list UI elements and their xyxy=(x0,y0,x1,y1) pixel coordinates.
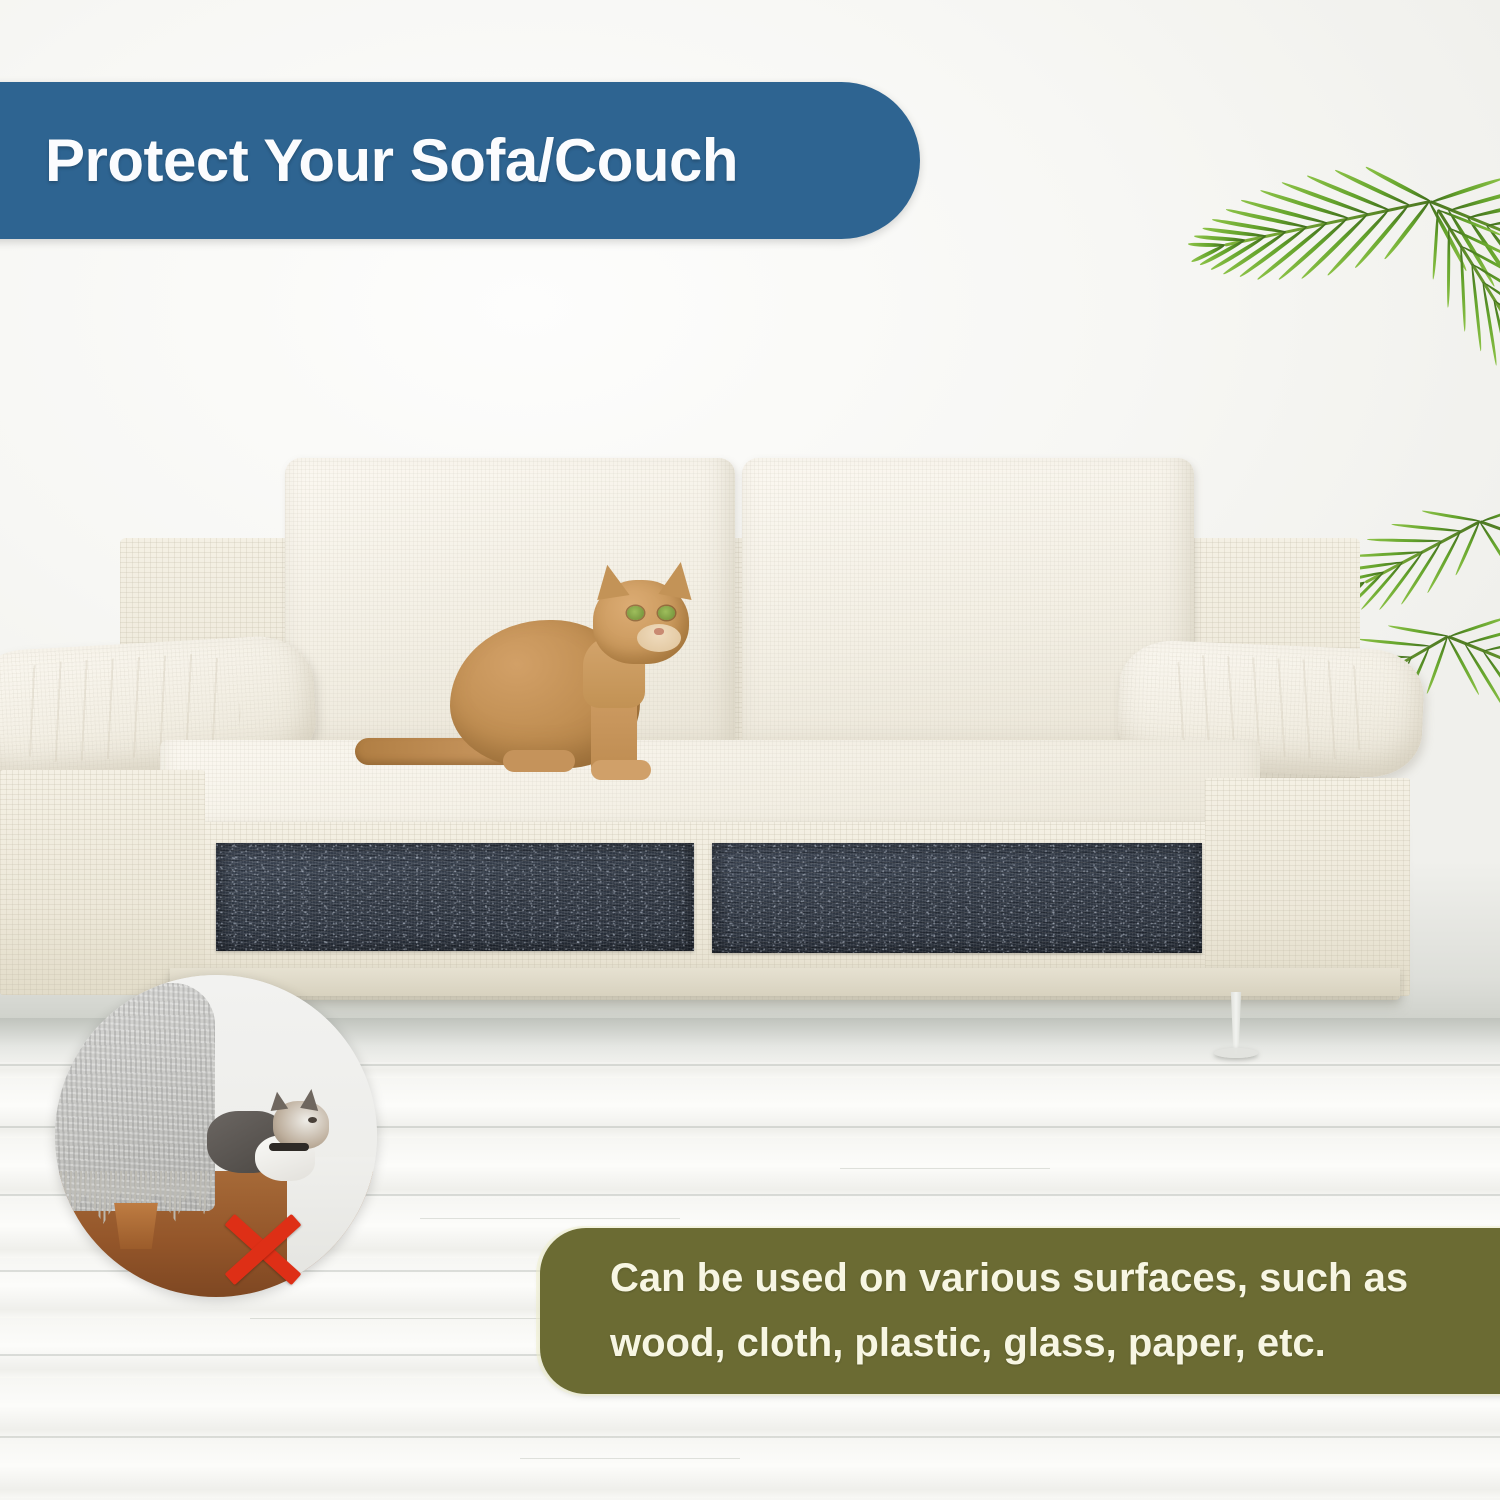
cat-front-paw xyxy=(591,760,651,780)
sofa xyxy=(0,440,1440,1060)
scratcher-mat-left xyxy=(216,843,694,951)
cat-hind-paw xyxy=(503,750,575,772)
sofa-leg xyxy=(1228,992,1244,1054)
surfaces-caption-box: Can be used on various surfaces, such as… xyxy=(540,1228,1500,1394)
palm-leaflet xyxy=(1187,242,1225,247)
mat-texture-right xyxy=(712,843,1202,953)
sofa-side-block-right xyxy=(1205,778,1410,996)
sofa-side-block-left xyxy=(0,770,205,995)
sofa-leg-foot xyxy=(1214,1048,1258,1058)
cat-nose xyxy=(654,628,664,635)
cat-eye-right xyxy=(658,606,675,620)
palm-leaflet xyxy=(1225,208,1307,229)
caption-line-2: wood, cloth, plastic, glass, paper, etc. xyxy=(610,1311,1490,1376)
product-marketing-image: Protect Your Sofa/Couch Can be xyxy=(0,0,1500,1500)
inset-cat xyxy=(207,1095,335,1183)
banner-title-text: Protect Your Sofa/Couch xyxy=(45,126,738,195)
cat-on-sofa xyxy=(355,558,700,786)
mat-texture-left xyxy=(216,843,694,951)
title-banner: Protect Your Sofa/Couch xyxy=(0,82,920,239)
red-x-cross-icon xyxy=(222,1208,304,1290)
palm-leaflet xyxy=(1447,636,1481,696)
palm-leaflet xyxy=(1480,500,1500,523)
damaged-sofa-inset-circle xyxy=(55,975,377,1297)
cat-ear-right xyxy=(657,562,693,600)
scratcher-mat-right xyxy=(712,843,1202,953)
palm-leaflet xyxy=(1459,246,1466,332)
palm-leaflet xyxy=(1301,214,1369,281)
cat-eye-left xyxy=(627,606,644,620)
caption-line-1: Can be used on various surfaces, such as xyxy=(610,1246,1490,1311)
